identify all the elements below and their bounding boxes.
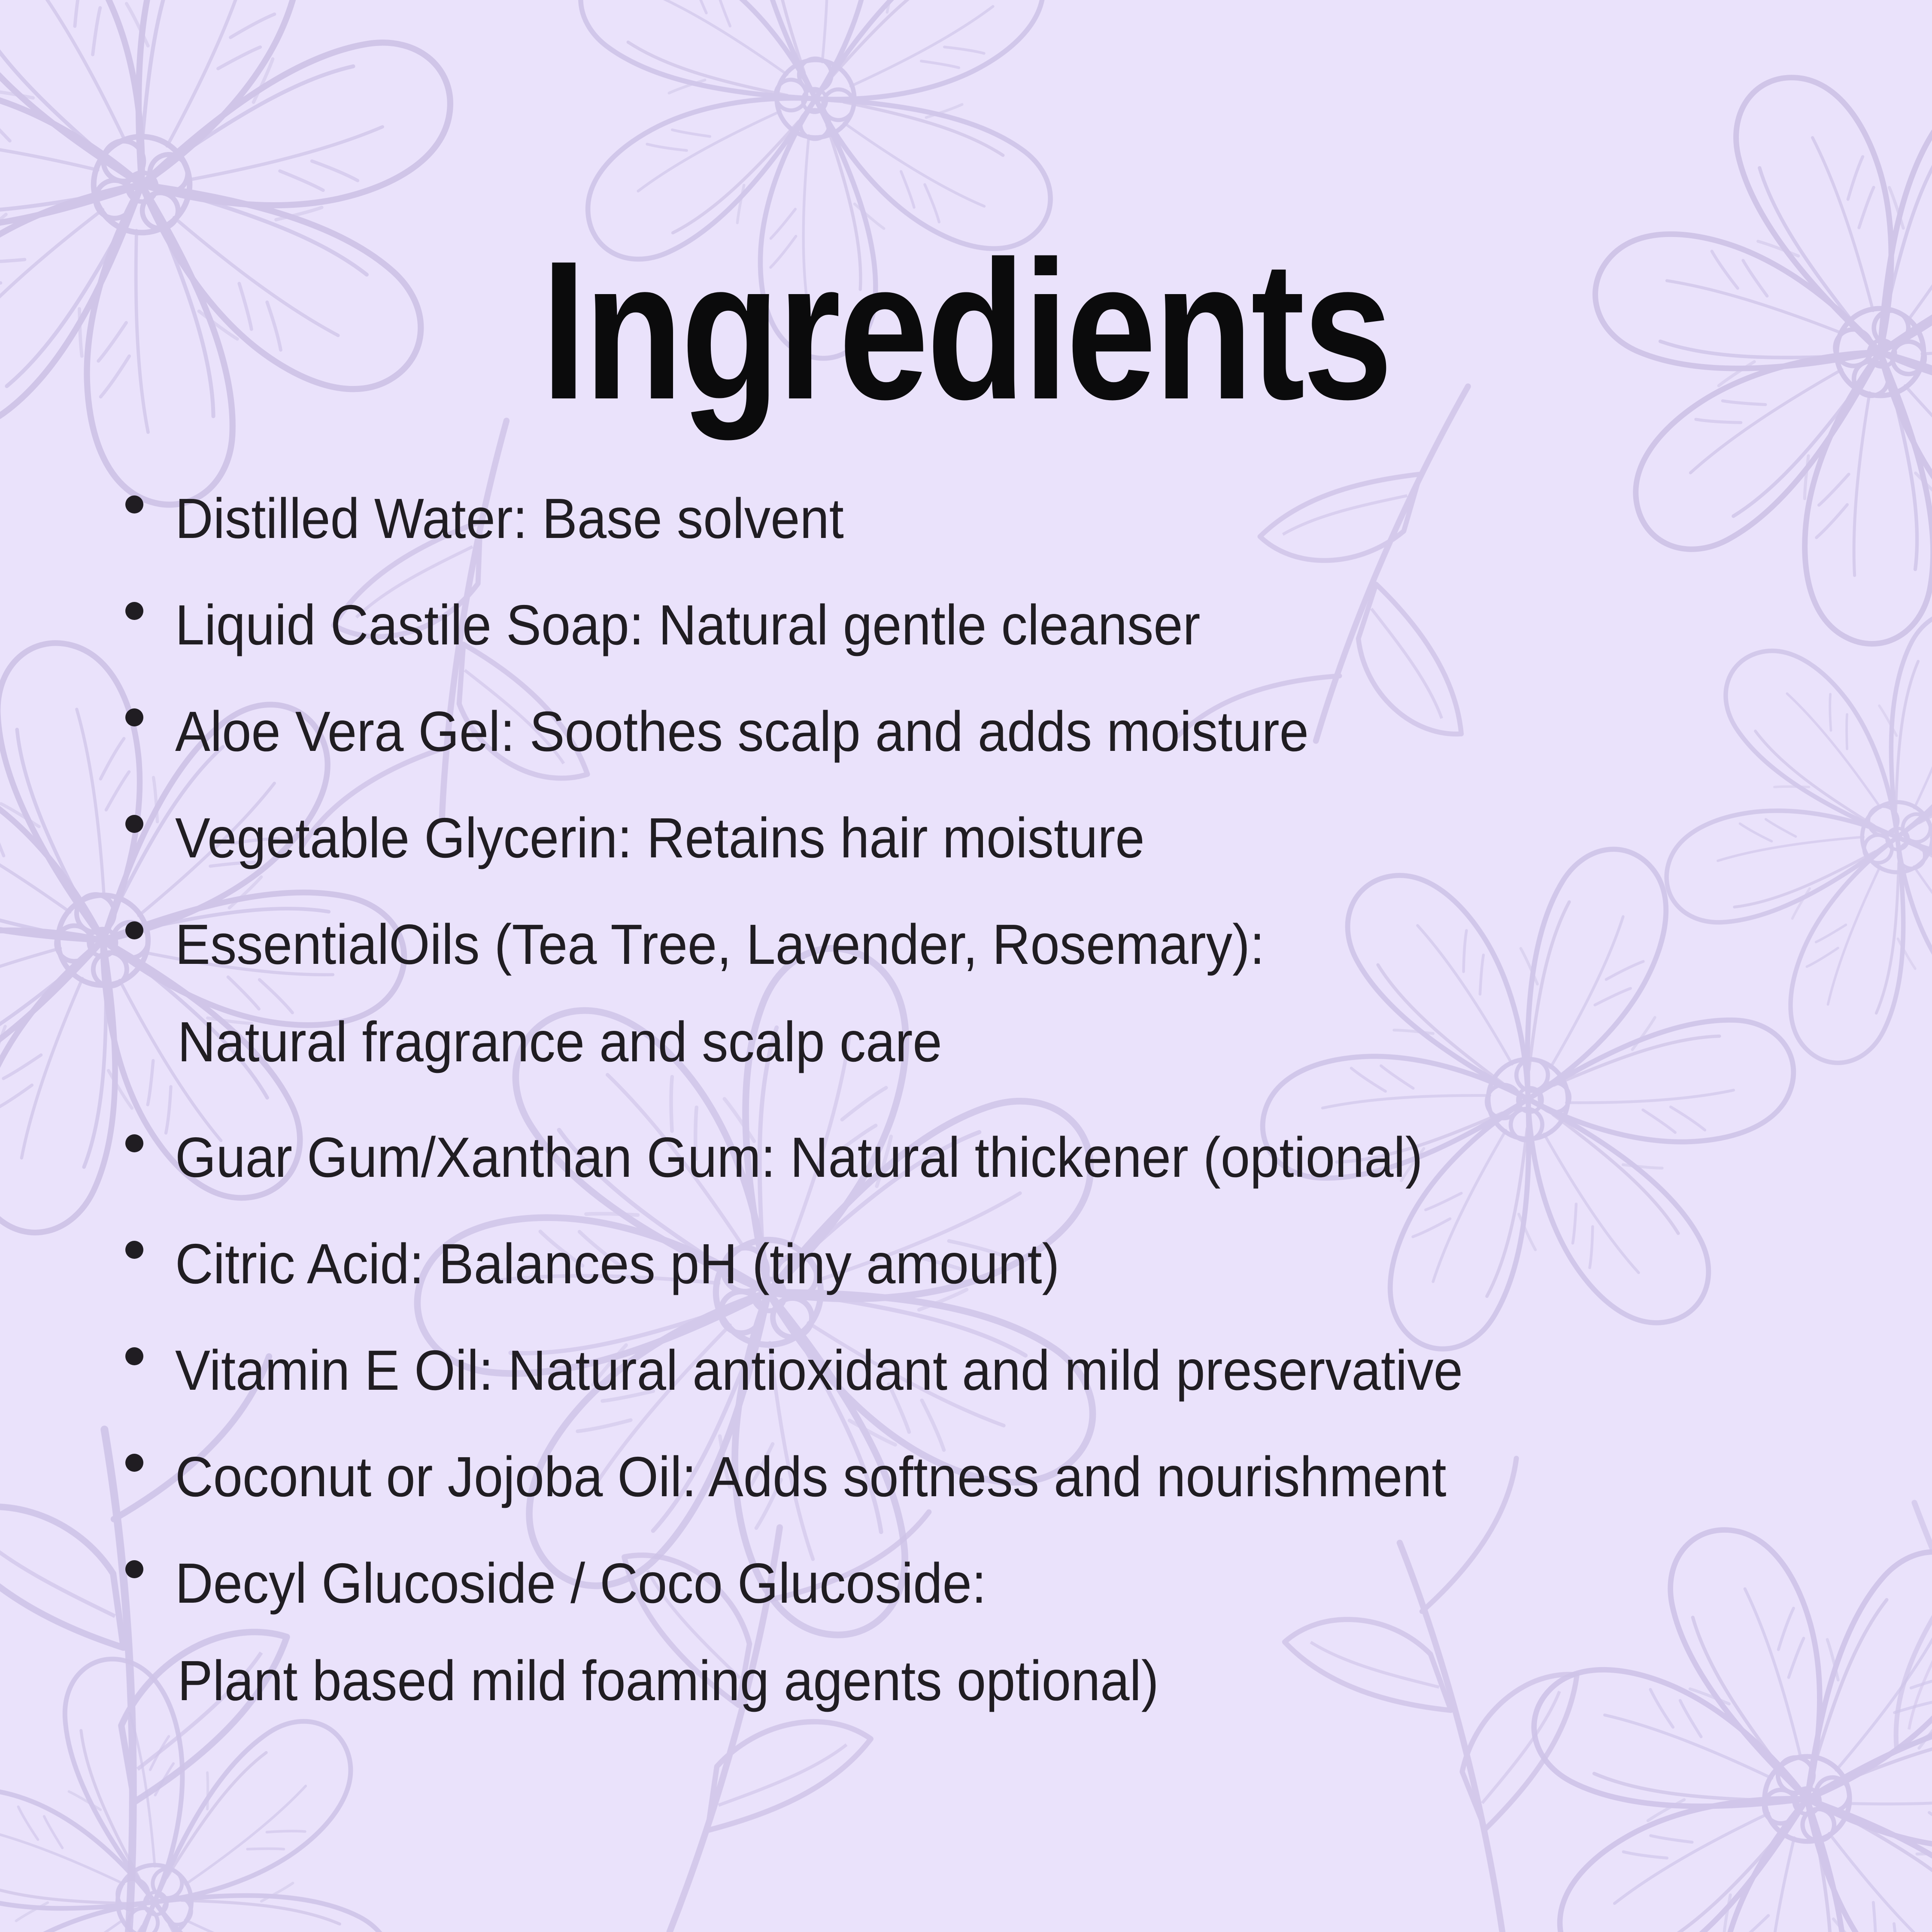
list-item-label: Coconut or Jojoba Oil: Adds softness and… [175,1428,1738,1525]
bullet-icon [125,495,143,513]
bullet-icon [125,815,143,833]
list-item: Guar Gum/Xanthan Gum: Natural thickener … [117,1109,1855,1215]
bullet-icon [125,1134,143,1152]
list-item-continuation: Natural fragrance and scalp care [175,993,1738,1091]
list-item: Liquid Castile Soap: Natural gentle clea… [117,576,1855,683]
list-item: Citric Acid: Balances pH (tiny amount) [117,1215,1855,1321]
list-item-label: Aloe Vera Gel: Soothes scalp and adds mo… [175,683,1738,780]
bullet-icon [125,1560,143,1578]
list-item-continuation: Plant based mild foaming agents optional… [175,1632,1738,1729]
bullet-icon [125,602,143,620]
bullet-icon [125,708,143,726]
list-item-label: EssentialOils (Tea Tree, Lavender, Rosem… [175,896,1738,993]
bullet-icon [125,1347,143,1365]
poster-canvas: Ingredients Distilled Water: Base solven… [0,0,1932,1932]
list-item: Coconut or Jojoba Oil: Adds softness and… [117,1428,1855,1534]
list-item-label: Liquid Castile Soap: Natural gentle clea… [175,576,1738,674]
list-item: Vitamin E Oil: Natural antioxidant and m… [117,1321,1855,1428]
list-item: Aloe Vera Gel: Soothes scalp and adds mo… [117,683,1855,789]
bullet-icon [125,921,143,939]
page-title: Ingredients [174,232,1758,429]
poster-content: Ingredients Distilled Water: Base solven… [0,0,1932,1932]
list-item-label: Vegetable Glycerin: Retains hair moistur… [175,789,1738,887]
bullet-icon [125,1454,143,1472]
list-item-label: Distilled Water: Base solvent [175,470,1738,567]
bullet-icon [125,1241,143,1259]
list-item-label: Guar Gum/Xanthan Gum: Natural thickener … [175,1109,1738,1206]
list-item: Distilled Water: Base solvent [117,470,1855,576]
list-item: Vegetable Glycerin: Retains hair moistur… [117,789,1855,896]
list-item-label: Vitamin E Oil: Natural antioxidant and m… [175,1321,1738,1419]
list-item-label: Decyl Glucoside / Coco Glucoside: [175,1534,1738,1632]
list-item-label: Citric Acid: Balances pH (tiny amount) [175,1215,1738,1312]
list-item: Decyl Glucoside / Coco Glucoside: Plant … [117,1534,1855,1747]
list-item: EssentialOils (Tea Tree, Lavender, Rosem… [117,896,1855,1109]
ingredient-list: Distilled Water: Base solvent Liquid Cas… [117,470,1855,1747]
